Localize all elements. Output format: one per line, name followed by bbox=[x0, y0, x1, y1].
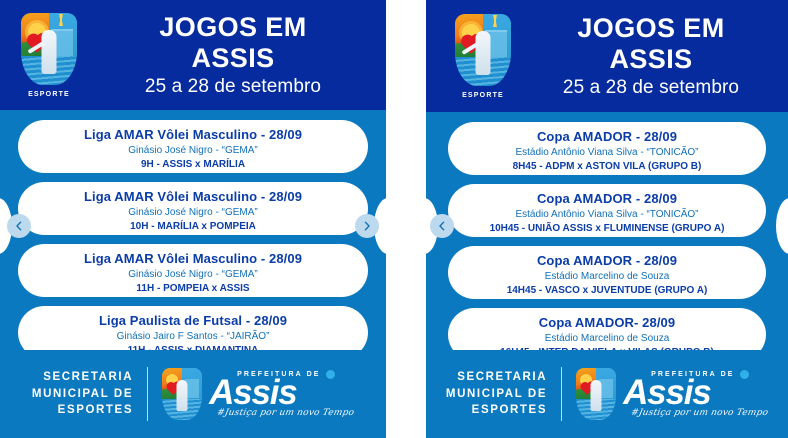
event-venue: Ginásio José Nigro - “GEMA” bbox=[32, 206, 354, 220]
city-crest-icon-small bbox=[162, 368, 202, 420]
list-item[interactable]: Liga AMAR Vôlei Masculino - 28/09 Ginási… bbox=[18, 182, 368, 235]
event-venue: Estádio Marcelino de Souza bbox=[462, 332, 752, 346]
esporte-crest-logo: ESPORTE bbox=[12, 13, 86, 98]
chevron-right-icon bbox=[362, 221, 372, 231]
secretaria-line-2: MUNICIPAL DE bbox=[446, 386, 547, 403]
list-item[interactable]: Copa AMADOR - 28/09 Estádio Antônio Vian… bbox=[448, 122, 766, 175]
prefeitura-logo-lockup: PREFEITURA DE Assis #Justiça por um novo… bbox=[576, 368, 768, 420]
panel-right-header: ESPORTE JOGOS EM ASSIS 25 a 28 de setemb… bbox=[426, 0, 788, 112]
event-match: 14H45 - VASCO x JUVENTUDE (GRUPO A) bbox=[462, 284, 752, 297]
event-title: Copa AMADOR - 28/09 bbox=[462, 191, 752, 207]
event-match: 8H45 - ADPM x ASTON VILA (GRUPO B) bbox=[462, 160, 752, 173]
carousel-prev-button[interactable] bbox=[7, 214, 31, 238]
event-title: Liga Paulista de Futsal - 28/09 bbox=[32, 313, 354, 329]
panel-right: ESPORTE JOGOS EM ASSIS 25 a 28 de setemb… bbox=[426, 0, 788, 438]
event-match: 10H45 - UNIÃO ASSIS x FLUMINENSE (GRUPO … bbox=[462, 222, 752, 235]
carousel-prev-button[interactable] bbox=[430, 214, 454, 238]
prefeitura-wordmark: PREFEITURA DE Assis #Justiça por um novo… bbox=[209, 370, 354, 418]
header-title-line1: JOGOS EM bbox=[520, 13, 782, 43]
event-venue: Ginásio José Nigro - “GEMA” bbox=[32, 144, 354, 158]
event-title: Copa AMADOR - 28/09 bbox=[462, 129, 752, 145]
panel-separator bbox=[386, 0, 426, 438]
event-match: 9H - ASSIS x MARÍLIA bbox=[32, 158, 354, 171]
panel-right-footer: SECRETARIA MUNICIPAL DE ESPORTES PREFEIT… bbox=[426, 350, 788, 438]
panel-right-title-block: JOGOS EM ASSIS 25 a 28 de setembro bbox=[520, 13, 788, 98]
carousel-next-button[interactable] bbox=[355, 214, 379, 238]
prefeitura-wordmark: PREFEITURA DE Assis #Justiça por um novo… bbox=[623, 370, 768, 418]
secretaria-block: SECRETARIA MUNICIPAL DE ESPORTES bbox=[446, 369, 547, 419]
prefeitura-tagline: #Justiça por um novo Tempo bbox=[622, 408, 769, 418]
secretaria-line-3: ESPORTES bbox=[32, 402, 133, 419]
list-item[interactable]: Liga AMAR Vôlei Masculino - 28/09 Ginási… bbox=[18, 244, 368, 297]
prefeitura-name: Assis bbox=[209, 376, 354, 409]
event-venue: Estádio Antônio Viana Silva - “TONICÃO” bbox=[462, 208, 752, 222]
secretaria-block: SECRETARIA MUNICIPAL DE ESPORTES bbox=[32, 369, 133, 419]
chevron-left-icon bbox=[14, 221, 24, 231]
event-match: 10H - MARÍLIA x POMPEIA bbox=[32, 220, 354, 233]
crest-caption: ESPORTE bbox=[462, 92, 504, 99]
prefeitura-name: Assis bbox=[623, 376, 768, 409]
header-title-line2: ASSIS bbox=[520, 44, 782, 74]
list-item[interactable]: Copa AMADOR - 28/09 Estádio Marcelino de… bbox=[448, 246, 766, 299]
secretaria-line-1: SECRETARIA bbox=[32, 369, 133, 386]
chevron-left-icon bbox=[437, 221, 447, 231]
panel-left: ESPORTE JOGOS EM ASSIS 25 a 28 de setemb… bbox=[0, 0, 386, 438]
secretaria-line-2: MUNICIPAL DE bbox=[32, 386, 133, 403]
secretaria-line-1: SECRETARIA bbox=[446, 369, 547, 386]
event-venue: Estádio Marcelino de Souza bbox=[462, 270, 752, 284]
secretaria-line-3: ESPORTES bbox=[446, 402, 547, 419]
header-title-line1: JOGOS EM bbox=[86, 12, 380, 42]
prefeitura-logo-lockup: PREFEITURA DE Assis #Justiça por um novo… bbox=[162, 368, 354, 420]
list-item[interactable]: Liga AMAR Vôlei Masculino - 28/09 Ginási… bbox=[18, 120, 368, 173]
city-crest-icon bbox=[455, 14, 511, 86]
crest-caption: ESPORTE bbox=[28, 91, 70, 98]
event-venue: Ginásio José Nigro - “GEMA” bbox=[32, 268, 354, 282]
event-title: Liga AMAR Vôlei Masculino - 28/09 bbox=[32, 189, 354, 205]
dual-panel-stage: ESPORTE JOGOS EM ASSIS 25 a 28 de setemb… bbox=[0, 0, 788, 438]
event-title: Copa AMADOR - 28/09 bbox=[462, 253, 752, 269]
panel-left-card-list: Liga AMAR Vôlei Masculino - 28/09 Ginási… bbox=[0, 110, 386, 350]
header-title-line2: ASSIS bbox=[86, 43, 380, 73]
event-title: Liga AMAR Vôlei Masculino - 28/09 bbox=[32, 251, 354, 267]
event-venue: Ginásio Jairo F Santos - “JAIRÃO” bbox=[32, 330, 354, 344]
event-venue: Estádio Antônio Viana Silva - “TONICÃO” bbox=[462, 146, 752, 160]
panel-right-card-list: Copa AMADOR - 28/09 Estádio Antônio Vian… bbox=[426, 112, 788, 352]
brand-dot-icon bbox=[740, 370, 749, 379]
footer-divider bbox=[561, 367, 562, 421]
header-subtitle: 25 a 28 de setembro bbox=[86, 76, 380, 98]
city-crest-icon bbox=[21, 13, 77, 85]
event-match: 11H - POMPEIA x ASSIS bbox=[32, 282, 354, 295]
event-title: Liga AMAR Vôlei Masculino - 28/09 bbox=[32, 127, 354, 143]
prefeitura-tagline: #Justiça por um novo Tempo bbox=[208, 408, 355, 418]
header-subtitle: 25 a 28 de setembro bbox=[520, 77, 782, 99]
esporte-crest-logo: ESPORTE bbox=[446, 14, 520, 99]
brand-dot-icon bbox=[326, 370, 335, 379]
panel-left-footer: SECRETARIA MUNICIPAL DE ESPORTES PREFEIT… bbox=[0, 350, 386, 438]
event-title: Copa AMADOR- 28/09 bbox=[462, 315, 752, 331]
panel-left-title-block: JOGOS EM ASSIS 25 a 28 de setembro bbox=[86, 12, 386, 97]
footer-divider bbox=[147, 367, 148, 421]
panel-left-header: ESPORTE JOGOS EM ASSIS 25 a 28 de setemb… bbox=[0, 0, 386, 110]
list-item[interactable]: Copa AMADOR - 28/09 Estádio Antônio Vian… bbox=[448, 184, 766, 237]
city-crest-icon-small bbox=[576, 368, 616, 420]
